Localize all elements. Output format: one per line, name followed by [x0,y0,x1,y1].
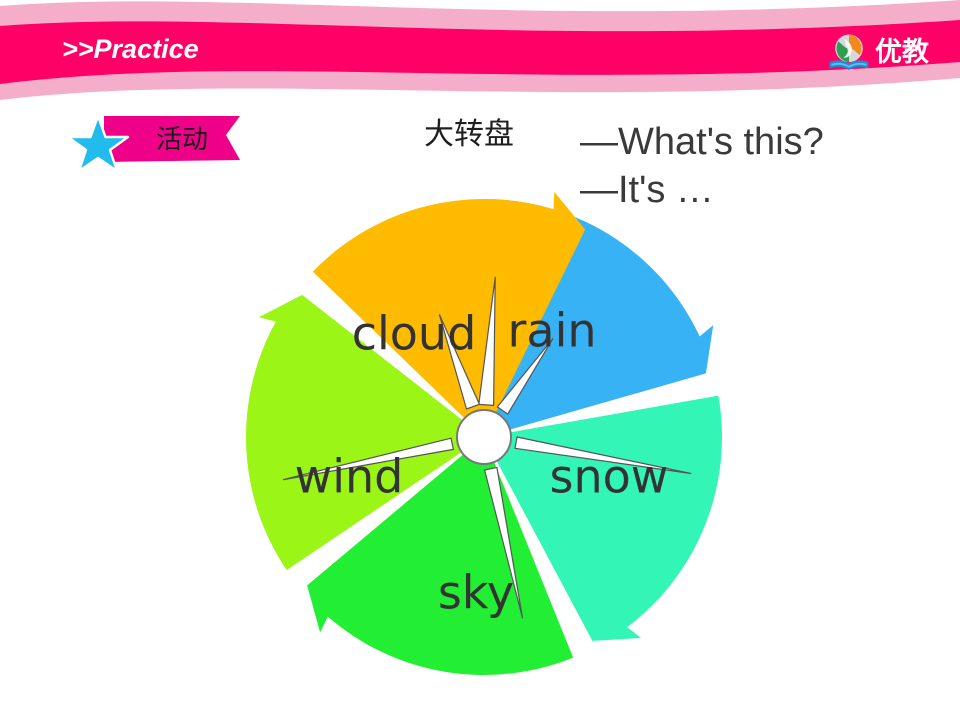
wheel-segment-label-rain: rain [507,304,596,358]
logo-mark-icon [826,29,872,75]
wheel-segment-label-snow: snow [550,450,669,504]
prompt-question: —What's this? [580,118,824,166]
activity-badge: 活动 [68,110,258,172]
wheel-segment-label-wind: wind [295,450,404,504]
wheel-caption: 大转盘 [424,116,514,154]
logo-text: 优教 [875,39,929,66]
wheel-segment-label-sky: sky [438,566,514,620]
spin-wheel[interactable]: rainsnowskywindcloud [234,182,734,682]
brand-logo: 优教 [826,28,952,76]
wheel-hub[interactable] [457,410,511,464]
page-title: >>Practice [62,34,199,65]
activity-label: 活动 [124,122,240,158]
slide-canvas: >>Practice 优教 活动 大转盘 —What's this? —It's… [0,0,960,720]
wheel-segment-label-cloud: cloud [352,307,477,361]
